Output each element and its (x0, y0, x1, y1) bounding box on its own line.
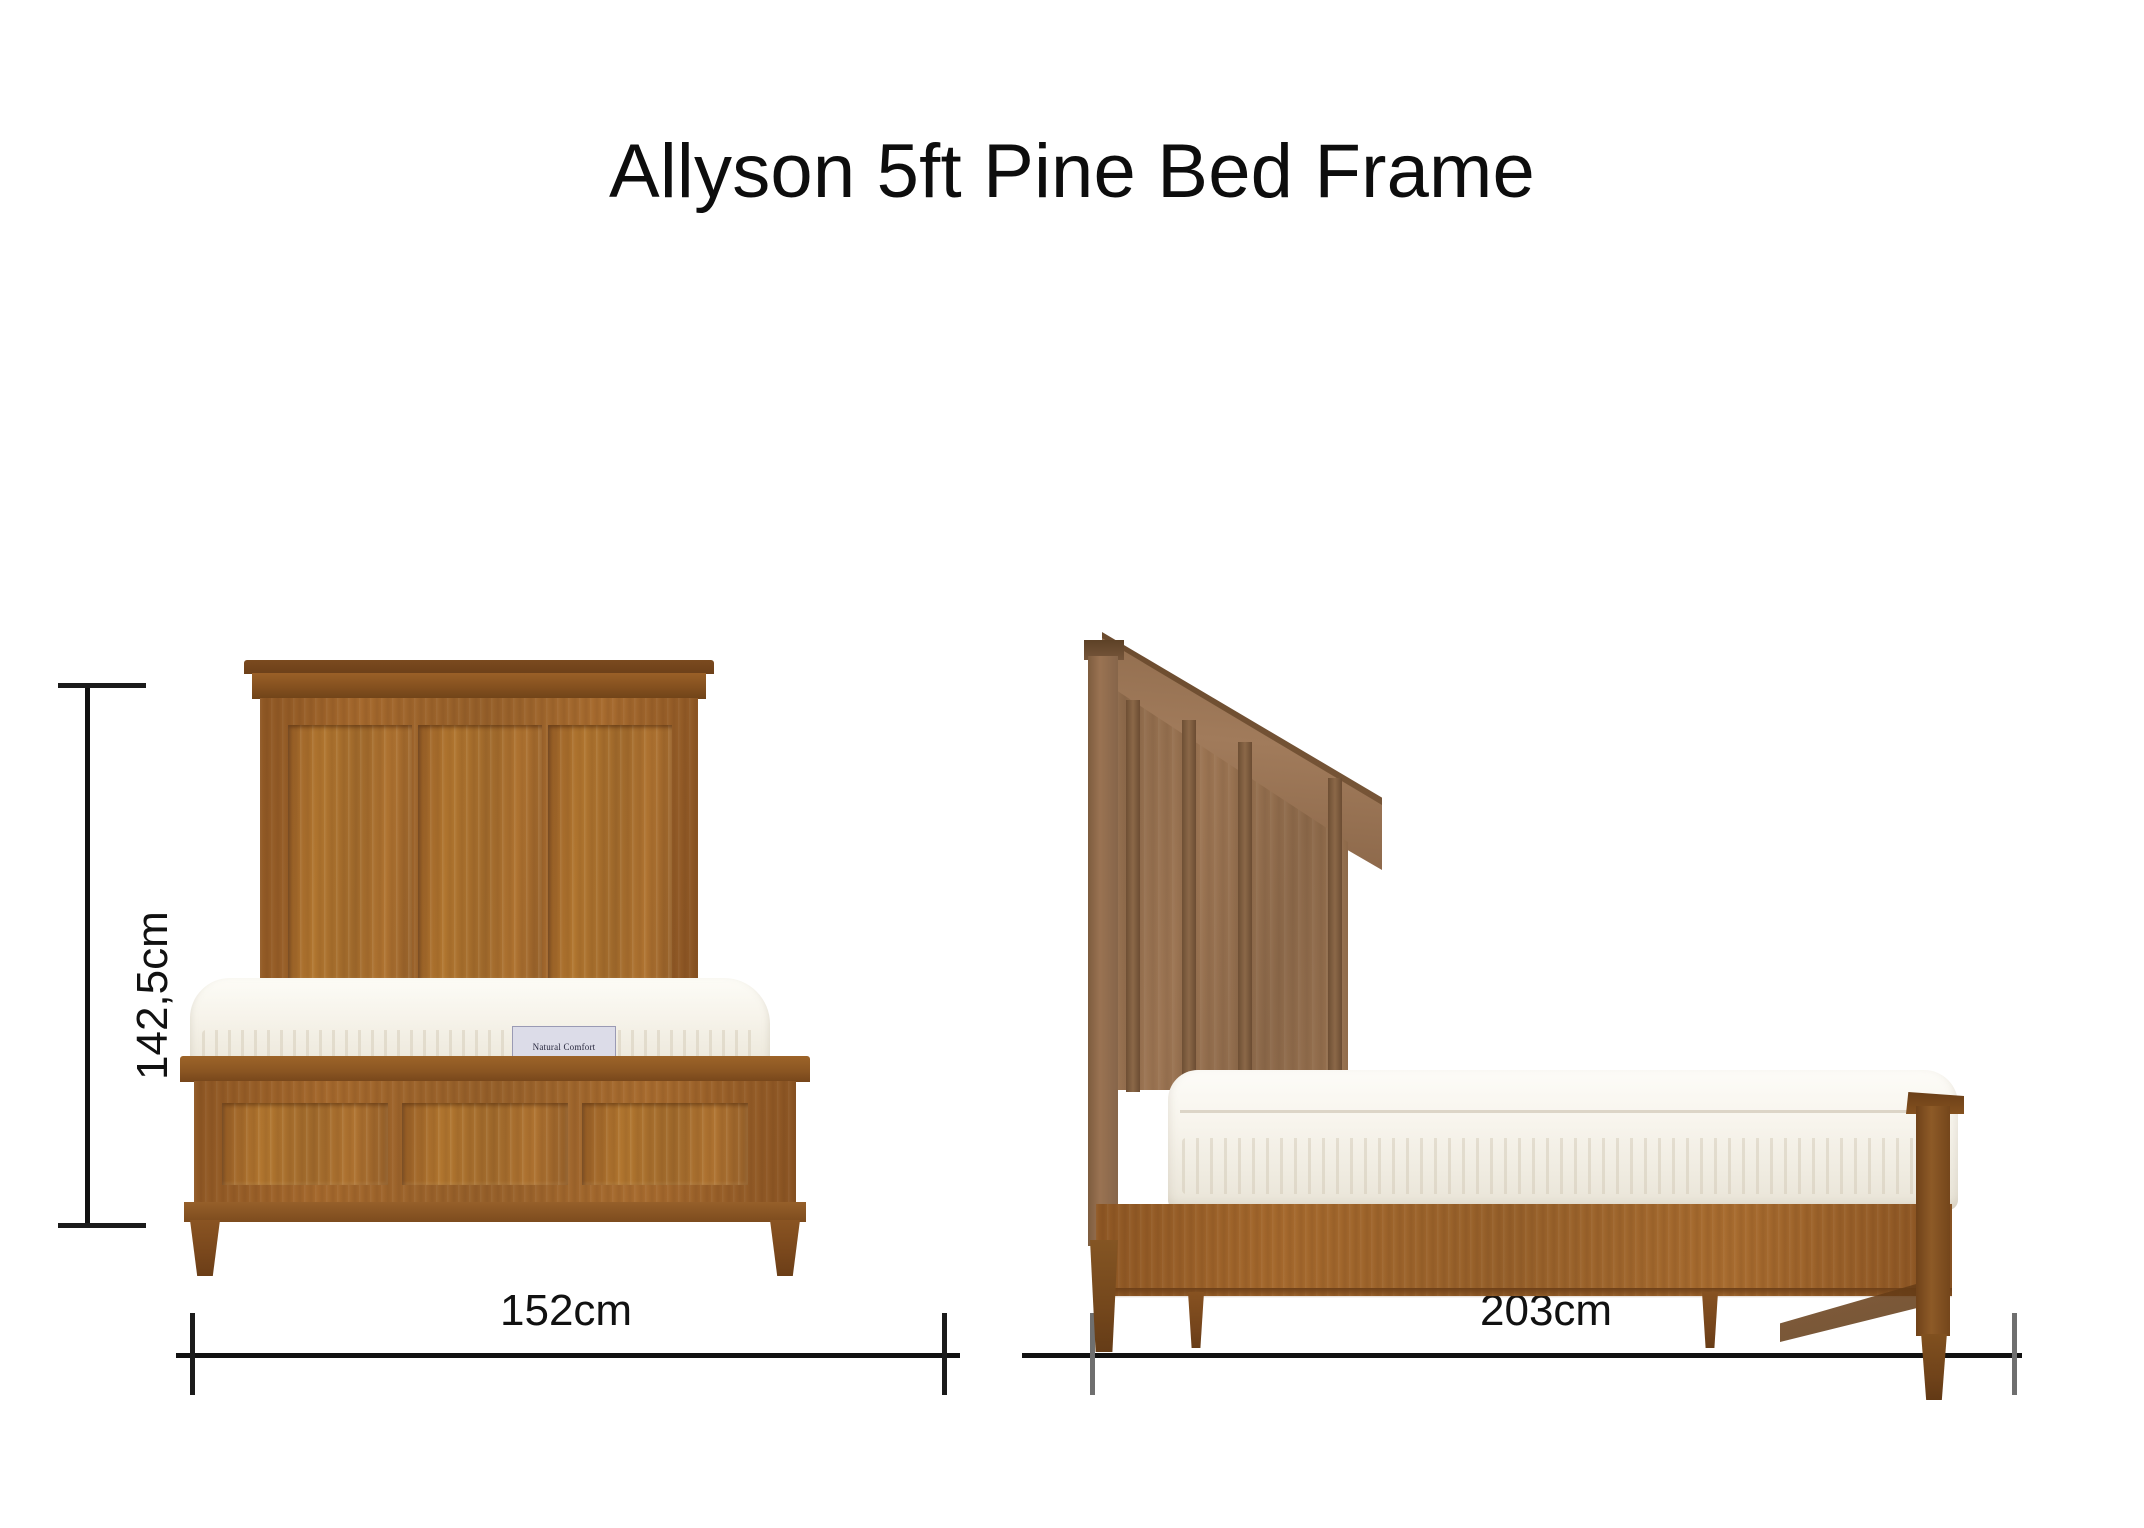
width-dimension-tick-right (942, 1313, 947, 1395)
height-dimension-tick-bottom (58, 1223, 146, 1228)
side-rail-shadow (1096, 1288, 1952, 1298)
footboard-panel (582, 1103, 748, 1185)
width-dimension-line (176, 1353, 960, 1358)
width-dimension-label: 152cm (500, 1286, 632, 1336)
front-footboard (180, 1056, 810, 1246)
height-dimension-line (85, 683, 90, 1228)
side-headboard-post (1088, 656, 1118, 1246)
length-dimension-tick-left (1090, 1313, 1095, 1395)
footboard-leg-right (770, 1220, 800, 1276)
length-dimension-line (1022, 1353, 2022, 1358)
headboard-panel (418, 725, 542, 980)
front-headboard (244, 660, 714, 985)
bed-side-view (1080, 620, 2040, 1260)
footboard-panel-frame (194, 1081, 796, 1203)
side-headboard-stile (1126, 700, 1140, 1092)
headboard-crown-molding (252, 673, 706, 699)
front-mattress: Natural Comfort (190, 978, 770, 1068)
bed-front-view: Natural Comfort (180, 660, 980, 1240)
headboard-panel (288, 725, 412, 980)
width-dimension-tick-left (190, 1313, 195, 1395)
diagram-canvas: Allyson 5ft Pine Bed Frame 142,5cm 152cm… (0, 0, 2144, 1528)
side-headboard-stile (1238, 742, 1252, 1092)
side-center-support-leg (1700, 1292, 1720, 1348)
side-center-support-leg (1186, 1292, 1206, 1348)
height-dimension-label: 142,5cm (128, 911, 178, 1080)
length-dimension-tick-right (2012, 1313, 2017, 1395)
headboard-panel-frame (260, 698, 698, 985)
footboard-bottom-rail (184, 1202, 806, 1222)
side-rail (1096, 1204, 1952, 1296)
page-title: Allyson 5ft Pine Bed Frame (0, 132, 2144, 212)
footboard-top-rail (180, 1056, 810, 1082)
headboard-crown-top-edge (244, 660, 714, 674)
headboard-panel (548, 725, 672, 980)
height-dimension-tick-top (58, 683, 146, 688)
mattress-seam (1180, 1110, 1946, 1113)
side-headboard-stile (1182, 720, 1196, 1092)
side-footboard-post (1916, 1106, 1950, 1336)
mattress-quilting-texture (1182, 1138, 1944, 1194)
footboard-panel (402, 1103, 568, 1185)
side-headboard-stile (1328, 778, 1342, 1090)
side-mattress (1168, 1070, 1958, 1210)
side-footboard-leg (1920, 1334, 1948, 1400)
footboard-leg-left (190, 1220, 220, 1276)
footboard-panel (222, 1103, 388, 1185)
